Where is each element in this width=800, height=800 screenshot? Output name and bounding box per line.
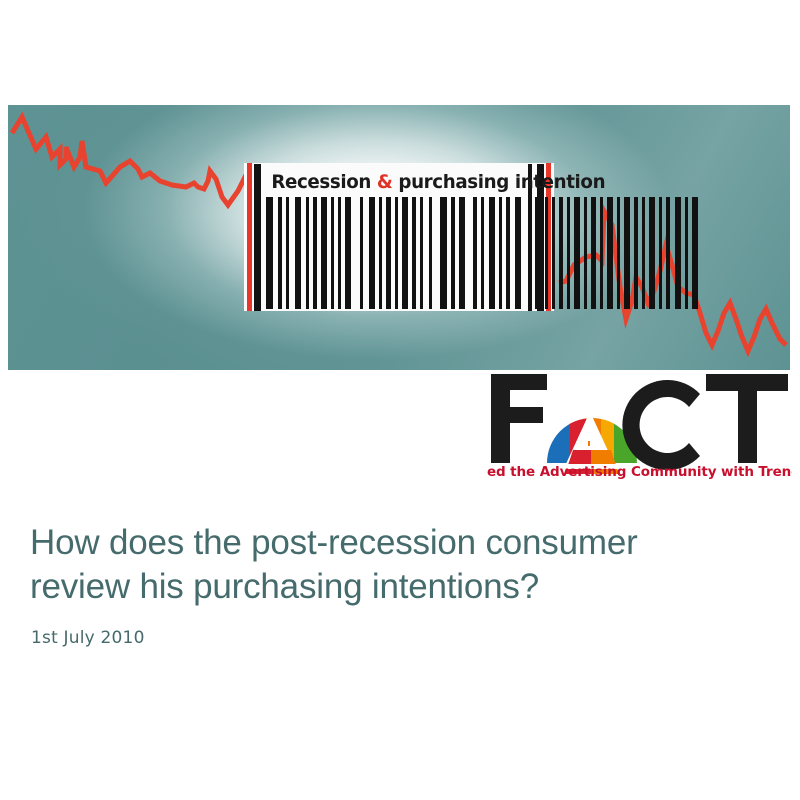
barcode-title-suffix: purchasing intention [392,171,605,193]
barcode-bars [266,197,524,309]
logo-letter-f [491,374,547,463]
barcode-red-rail-left [247,163,252,311]
barcode-title: Recession & purchasing intention [271,168,526,196]
logo-letter-t [706,374,788,463]
title-banner-image: Recession & purchasing intention [8,105,790,370]
trend-line-left [12,117,252,281]
publication-date: 1st July 2010 [31,628,145,648]
barcode-guard-bar-left [254,164,261,311]
page-title-line-1: How does the post-recession consumer [30,521,760,565]
barcode-title-prefix: Recession [271,171,377,193]
barcode-title-ampersand: & [377,171,393,193]
page-title: How does the post-recession consumer rev… [30,521,760,609]
barcode-graphic: Recession & purchasing intention [244,163,554,311]
fact-logo: Feed the Advertising Community with Tren… [487,370,792,480]
logo-tagline: Feed the Advertising Community with Tren… [487,464,792,480]
page-title-line-2: review his purchasing intentions? [30,565,760,609]
